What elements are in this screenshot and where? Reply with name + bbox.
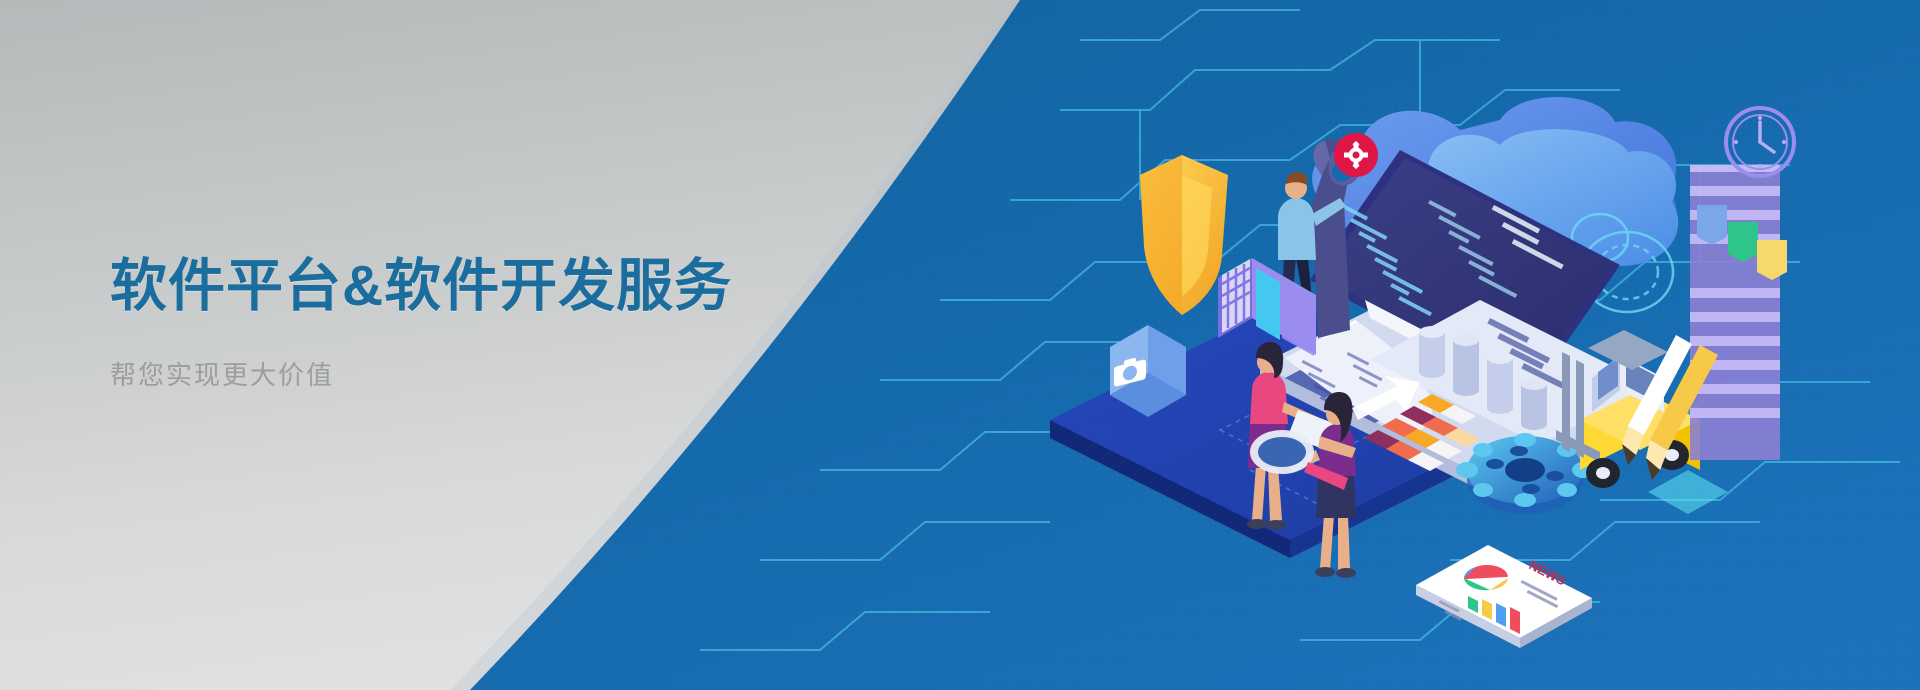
page-title: 软件平台&软件开发服务: [110, 255, 870, 318]
accent-tile: [1648, 470, 1728, 514]
document-panel: [1690, 165, 1787, 460]
news-card: NEWS: [1416, 545, 1592, 648]
shield-icon: [1140, 155, 1228, 315]
gear-badge-icon: [1334, 133, 1378, 177]
hero-banner: NEWS 软件平台&软件开发服务 帮您实现更大价值: [0, 0, 1920, 690]
page-subtitle: 帮您实现更大价值: [110, 355, 870, 392]
banner-text-block: 软件平台&软件开发服务 帮您实现更大价值: [110, 255, 870, 392]
clock-icon: [1726, 108, 1794, 176]
